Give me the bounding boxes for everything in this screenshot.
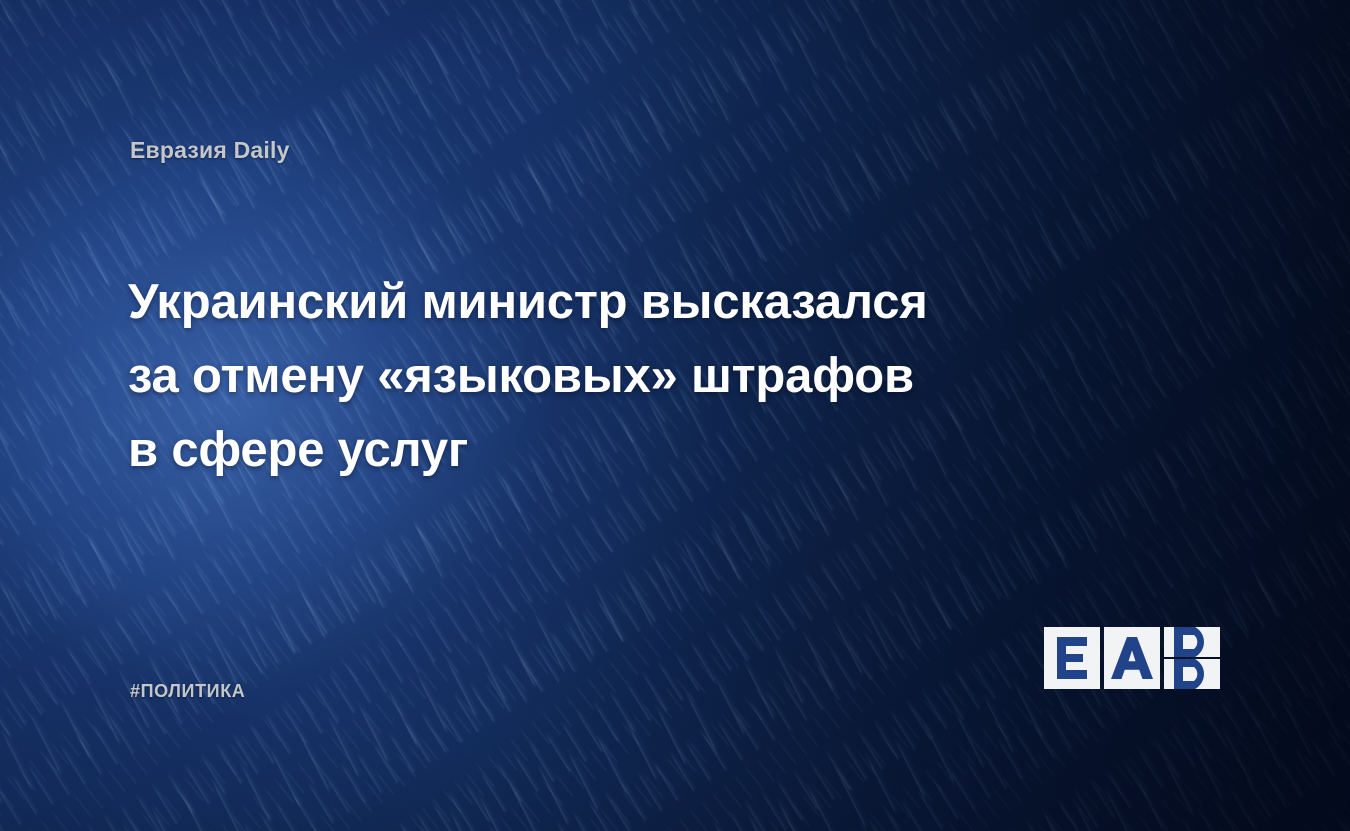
logo-tile-a xyxy=(1104,627,1160,689)
headline-line-3: в сфере услуг xyxy=(128,413,1078,487)
social-share-card: Евразия Daily Украинский министр высказа… xyxy=(0,0,1350,831)
brand-name: Евразия Daily xyxy=(130,137,290,164)
logo-d-upper xyxy=(1164,627,1220,657)
category-tag[interactable]: #ПОЛИТИКА xyxy=(130,681,245,702)
logo-d-lower xyxy=(1164,659,1220,689)
logo-tile-e xyxy=(1044,627,1100,689)
headline-line-1: Украинский министр высказался xyxy=(128,265,1078,339)
logo-tile-d-mark xyxy=(1164,627,1220,689)
card-content: Евразия Daily Украинский министр высказа… xyxy=(0,0,1350,831)
headline-line-2: за отмену «языковых» штрафов xyxy=(128,339,1078,413)
headline: Украинский министр высказался за отмену … xyxy=(128,265,1078,487)
eadaily-logo[interactable] xyxy=(1044,627,1222,689)
